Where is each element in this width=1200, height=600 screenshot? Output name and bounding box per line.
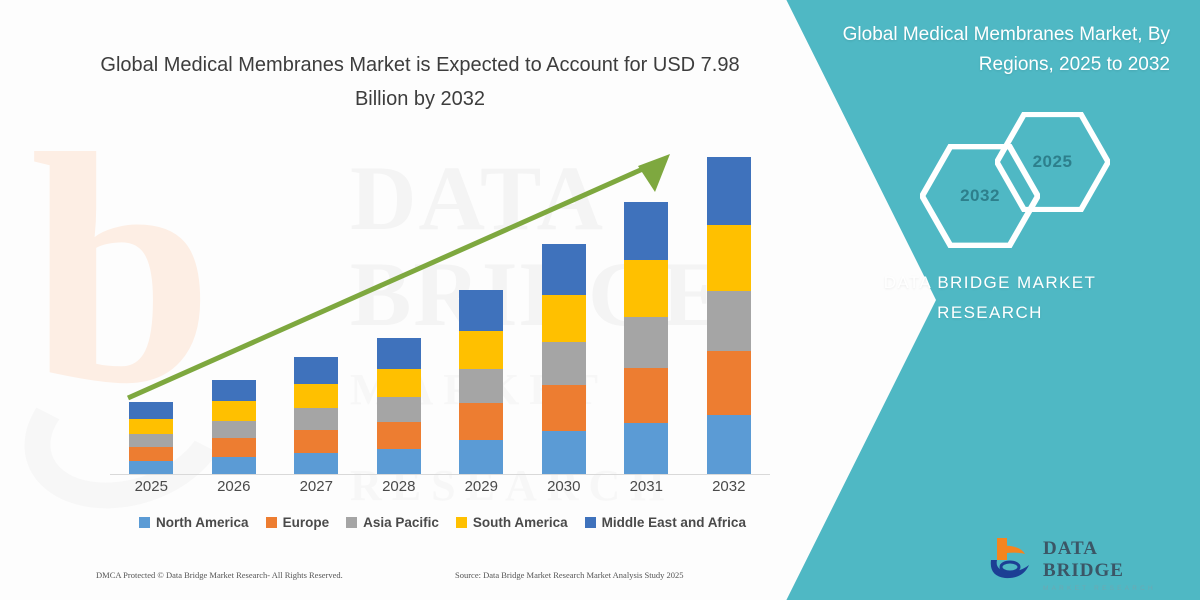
segment-asia-pacific[interactable] bbox=[294, 408, 338, 430]
segment-north-america[interactable] bbox=[624, 423, 668, 474]
segment-south-america[interactable] bbox=[377, 369, 421, 397]
legend-label: Europe bbox=[283, 515, 330, 530]
segment-europe[interactable] bbox=[212, 438, 256, 457]
legend-label: North America bbox=[156, 515, 249, 530]
x-label-2031: 2031 bbox=[616, 478, 676, 495]
x-label-2025: 2025 bbox=[121, 478, 181, 495]
segment-asia-pacific[interactable] bbox=[707, 291, 751, 351]
segment-middle-east-and-africa[interactable] bbox=[377, 338, 421, 369]
segment-asia-pacific[interactable] bbox=[624, 317, 668, 368]
segment-north-america[interactable] bbox=[212, 457, 256, 474]
bar-2027[interactable] bbox=[294, 357, 338, 474]
legend-swatch-icon bbox=[139, 517, 150, 528]
segment-asia-pacific[interactable] bbox=[459, 369, 503, 403]
segment-asia-pacific[interactable] bbox=[129, 434, 173, 447]
legend-swatch-icon bbox=[346, 517, 357, 528]
infographic-canvas: b DATA BRIDGEMARKET RESEARCH Global Medi… bbox=[0, 0, 1200, 600]
segment-north-america[interactable] bbox=[377, 449, 421, 474]
panel-title: Global Medical Membranes Market, By Regi… bbox=[810, 20, 1170, 80]
legend-item-middle-east-and-africa[interactable]: Middle East and Africa bbox=[585, 515, 746, 530]
segment-south-america[interactable] bbox=[212, 401, 256, 421]
plot-area bbox=[110, 143, 770, 475]
segment-middle-east-and-africa[interactable] bbox=[542, 244, 586, 295]
segment-south-america[interactable] bbox=[624, 260, 668, 317]
segment-south-america[interactable] bbox=[542, 295, 586, 342]
databridge-logo[interactable]: DATA BRIDGE MARKET RESEARCH bbox=[985, 532, 1175, 588]
legend-label: South America bbox=[473, 515, 568, 530]
bar-2026[interactable] bbox=[212, 380, 256, 474]
segment-south-america[interactable] bbox=[707, 225, 751, 291]
legend-label: Asia Pacific bbox=[363, 515, 439, 530]
logo-main-text: DATA BRIDGE bbox=[1043, 538, 1175, 582]
hexagon-badges: 2032 2025 bbox=[920, 112, 1120, 232]
segment-south-america[interactable] bbox=[459, 331, 503, 369]
logo-sub-text: MARKET RESEARCH bbox=[1043, 585, 1175, 592]
x-axis-line bbox=[110, 474, 770, 475]
segment-middle-east-and-africa[interactable] bbox=[707, 157, 751, 225]
x-label-2028: 2028 bbox=[369, 478, 429, 495]
segment-europe[interactable] bbox=[459, 403, 503, 440]
databridge-logo-text: DATA BRIDGE MARKET RESEARCH bbox=[1043, 538, 1175, 592]
x-label-2027: 2027 bbox=[286, 478, 346, 495]
segment-europe[interactable] bbox=[707, 351, 751, 415]
hexagon-badge-start-year: 2025 bbox=[995, 112, 1110, 212]
bar-2029[interactable] bbox=[459, 290, 503, 474]
x-label-2026: 2026 bbox=[204, 478, 264, 495]
legend-label: Middle East and Africa bbox=[602, 515, 746, 530]
bar-2032[interactable] bbox=[707, 157, 751, 474]
legend-swatch-icon bbox=[585, 517, 596, 528]
segment-south-america[interactable] bbox=[129, 419, 173, 434]
segment-europe[interactable] bbox=[624, 368, 668, 423]
bar-2031[interactable] bbox=[624, 202, 668, 474]
segment-middle-east-and-africa[interactable] bbox=[294, 357, 338, 384]
bar-2028[interactable] bbox=[377, 338, 421, 474]
page-title: Global Medical Membranes Market is Expec… bbox=[100, 48, 740, 116]
legend-item-south-america[interactable]: South America bbox=[456, 515, 568, 530]
segment-asia-pacific[interactable] bbox=[377, 397, 421, 422]
legend-item-north-america[interactable]: North America bbox=[139, 515, 249, 530]
legend-swatch-icon bbox=[266, 517, 277, 528]
x-label-2032: 2032 bbox=[699, 478, 759, 495]
x-label-2029: 2029 bbox=[451, 478, 511, 495]
segment-south-america[interactable] bbox=[294, 384, 338, 408]
segment-north-america[interactable] bbox=[129, 461, 173, 474]
source-note: Source: Data Bridge Market Research Mark… bbox=[455, 570, 684, 580]
panel-brand-line1: DATA BRIDGE MARKET bbox=[780, 268, 1200, 298]
segment-europe[interactable] bbox=[377, 422, 421, 449]
dmca-notice: DMCA Protected © Data Bridge Market Rese… bbox=[96, 570, 343, 580]
segment-middle-east-and-africa[interactable] bbox=[212, 380, 256, 401]
segment-north-america[interactable] bbox=[294, 453, 338, 474]
segment-middle-east-and-africa[interactable] bbox=[624, 202, 668, 260]
panel-brand: DATA BRIDGE MARKET RESEARCH bbox=[780, 268, 1200, 328]
chart-legend: North AmericaEuropeAsia PacificSouth Ame… bbox=[110, 515, 775, 530]
segment-europe[interactable] bbox=[542, 385, 586, 431]
hexagon-start-year-label: 2025 bbox=[995, 112, 1110, 212]
segment-north-america[interactable] bbox=[542, 431, 586, 474]
bar-group bbox=[110, 143, 770, 474]
x-label-2030: 2030 bbox=[534, 478, 594, 495]
segment-north-america[interactable] bbox=[459, 440, 503, 474]
segment-middle-east-and-africa[interactable] bbox=[129, 402, 173, 419]
legend-item-europe[interactable]: Europe bbox=[266, 515, 330, 530]
databridge-logo-mark-icon bbox=[985, 534, 1037, 584]
bar-2025[interactable] bbox=[129, 402, 173, 474]
segment-asia-pacific[interactable] bbox=[212, 421, 256, 438]
stacked-bar-chart bbox=[110, 140, 770, 475]
segment-europe[interactable] bbox=[129, 447, 173, 461]
segment-asia-pacific[interactable] bbox=[542, 342, 586, 385]
legend-item-asia-pacific[interactable]: Asia Pacific bbox=[346, 515, 439, 530]
segment-north-america[interactable] bbox=[707, 415, 751, 474]
bar-2030[interactable] bbox=[542, 244, 586, 474]
segment-middle-east-and-africa[interactable] bbox=[459, 290, 503, 331]
legend-swatch-icon bbox=[456, 517, 467, 528]
segment-europe[interactable] bbox=[294, 430, 338, 453]
x-axis-labels: 20252026202720282029203020312032 bbox=[110, 478, 770, 495]
panel-brand-line2: RESEARCH bbox=[780, 298, 1200, 328]
